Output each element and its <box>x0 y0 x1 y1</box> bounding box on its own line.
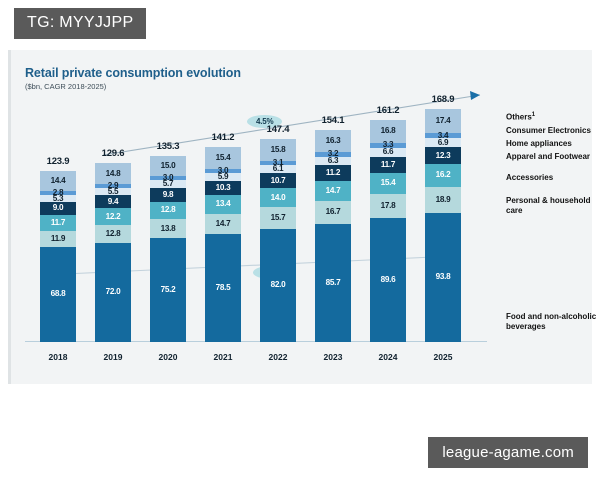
bar-segment: 14.7 <box>315 181 351 201</box>
bar-segment: 13.8 <box>150 219 186 238</box>
tg-tag-badge: TG: MYYJJPP <box>14 8 146 39</box>
bar-segment-value: 12.3 <box>436 152 451 160</box>
bar-segment: 9.0 <box>40 202 76 214</box>
bar-segment-value: 89.6 <box>381 276 396 284</box>
bar-segment: 11.2 <box>315 165 351 180</box>
bar-segment: 75.2 <box>150 238 186 342</box>
bar-segment: 14.0 <box>260 188 296 207</box>
bar-segment-value: 14.7 <box>216 220 231 228</box>
bar-segment: 6.6 <box>370 148 406 157</box>
bar-segment-value: 75.2 <box>161 286 176 294</box>
bar-segment-value: 12.2 <box>106 213 121 221</box>
bar-segment: 72.0 <box>95 243 131 342</box>
bar-segment-value: 9.0 <box>53 204 63 212</box>
bar-stack: 16.83.36.611.715.417.889.6 <box>370 120 406 342</box>
bar-segment: 9.4 <box>95 195 131 208</box>
bar-segment: 6.3 <box>315 157 351 166</box>
legend-item-consumer-electronics: Consumer Electronics <box>506 126 600 136</box>
watermark-badge: league-agame.com <box>428 437 588 468</box>
bar-segment: 93.8 <box>425 213 461 342</box>
bar-segment: 78.5 <box>205 234 241 342</box>
bar-segment-value: 15.4 <box>381 179 396 187</box>
bar-segment: 5.9 <box>205 173 241 181</box>
x-axis-label-2018: 2018 <box>35 352 81 362</box>
bar-segment-value: 15.8 <box>271 146 286 154</box>
legend-item-others: Others1 <box>506 112 600 123</box>
legend: Others1 Consumer Electronics Home applia… <box>506 112 600 219</box>
bar-segment-value: 9.8 <box>163 191 173 199</box>
bar-segment-value: 6.3 <box>328 157 338 165</box>
bar-segment: 14.7 <box>205 214 241 234</box>
bar-segment-value: 11.9 <box>51 235 65 243</box>
bar-segment-value: 9.4 <box>108 198 118 206</box>
bar-segment: 15.4 <box>370 173 406 194</box>
bar-segment: 10.7 <box>260 173 296 188</box>
bar-segment: 5.3 <box>40 195 76 202</box>
x-axis-label-2025: 2025 <box>420 352 466 362</box>
bar-segment-value: 17.8 <box>381 202 396 210</box>
bar-segment: 12.2 <box>95 208 131 225</box>
bar-segment-value: 11.7 <box>51 219 65 227</box>
bar-segment-value: 16.8 <box>381 127 396 135</box>
bar-total-label: 147.4 <box>255 124 301 135</box>
bar-segment-value: 10.3 <box>216 184 231 192</box>
x-axis-label-2020: 2020 <box>145 352 191 362</box>
x-axis-label-2019: 2019 <box>90 352 136 362</box>
bar-segment: 6.9 <box>425 138 461 148</box>
bar-segment-value: 85.7 <box>326 279 341 287</box>
bar-total-label: 168.9 <box>420 94 466 105</box>
bar-segment: 15.7 <box>260 207 296 229</box>
bar-segment-value: 10.7 <box>271 177 286 185</box>
bar-segment: 12.3 <box>425 147 461 164</box>
bar-stack: 15.03.05.79.812.813.875.2 <box>150 156 186 342</box>
legend-others-superscript: 1 <box>532 112 535 118</box>
bar-segment: 11.9 <box>40 231 76 247</box>
bar-segment-value: 11.2 <box>326 169 340 177</box>
bar-segment-value: 17.4 <box>436 117 451 125</box>
legend-item-home-appliances: Home appliances <box>506 139 600 149</box>
legend-item-apparel-and-footwear: Apparel and Footwear <box>506 152 600 162</box>
legend-label-others: Others <box>506 113 532 122</box>
bar-segment: 16.2 <box>425 164 461 186</box>
bar-segment-value: 5.7 <box>163 180 173 188</box>
legend-item-personal-household-care: Personal & household care <box>506 196 600 216</box>
bar-segment-value: 14.4 <box>51 177 66 185</box>
bar-total-label: 161.2 <box>365 105 411 116</box>
bar-segment-value: 14.0 <box>271 194 286 202</box>
bar-segment-value: 5.9 <box>218 173 228 181</box>
bar-segment-value: 93.8 <box>436 273 451 281</box>
bar-segment: 85.7 <box>315 224 351 342</box>
x-axis-label-2021: 2021 <box>200 352 246 362</box>
bar-segment: 10.3 <box>205 181 241 195</box>
bar-segment-value: 6.1 <box>273 165 283 173</box>
bar-segment-value: 68.8 <box>51 290 66 298</box>
bar-segment: 89.6 <box>370 218 406 341</box>
bar-segment-value: 11.7 <box>381 161 395 169</box>
bar-segment: 12.8 <box>150 202 186 220</box>
bar-segment: 11.7 <box>370 157 406 173</box>
bar-segment: 9.8 <box>150 188 186 202</box>
bar-segment-value: 6.9 <box>438 139 448 147</box>
bar-segment: 17.8 <box>370 194 406 219</box>
bar-segment-value: 16.7 <box>326 208 341 216</box>
slide-card: Retail private consumption evolution ($b… <box>8 50 592 384</box>
bar-segment: 11.7 <box>40 215 76 231</box>
bar-segment-value: 15.7 <box>271 214 286 222</box>
bar-segment-value: 18.9 <box>436 196 451 204</box>
bar-segment: 17.4 <box>425 109 461 133</box>
bar-stack: 16.33.26.311.214.716.785.7 <box>315 130 351 342</box>
bar-total-label: 154.1 <box>310 115 356 126</box>
bar-segment-value: 13.8 <box>161 225 176 233</box>
bar-stack: 14.42.85.39.011.711.968.8 <box>40 171 76 342</box>
stacked-bar-chart: 4.5% 4.5% 123.914.42.85.39.011.711.968.8… <box>25 70 495 370</box>
bar-stack: 14.82.95.59.412.212.872.0 <box>95 163 131 342</box>
bar-segment-value: 14.8 <box>106 170 121 178</box>
bar-segment: 13.4 <box>205 195 241 213</box>
bar-segment-value: 14.7 <box>326 187 341 195</box>
bar-stack: 17.43.46.912.316.218.993.8 <box>425 109 461 342</box>
bar-segment: 5.5 <box>95 188 131 196</box>
bar-segment: 18.9 <box>425 187 461 213</box>
bar-segment-value: 6.6 <box>383 148 393 156</box>
bar-total-label: 129.6 <box>90 148 136 159</box>
bar-total-label: 135.3 <box>145 141 191 152</box>
bar-segment: 5.7 <box>150 180 186 188</box>
bar-segment-value: 16.2 <box>436 171 451 179</box>
bar-total-label: 141.2 <box>200 132 246 143</box>
x-axis-label-2022: 2022 <box>255 352 301 362</box>
bar-stack: 15.83.16.110.714.015.782.0 <box>260 139 296 342</box>
bar-segment-value: 15.4 <box>216 154 231 162</box>
x-axis-label-2024: 2024 <box>365 352 411 362</box>
bar-segment: 12.8 <box>95 225 131 243</box>
bar-segment: 6.1 <box>260 165 296 173</box>
bar-segment-value: 12.8 <box>161 206 176 214</box>
bar-segment-value: 12.8 <box>106 230 121 238</box>
bar-stack: 15.43.05.910.313.414.778.5 <box>205 147 241 342</box>
bar-segment-value: 16.3 <box>326 137 341 145</box>
bar-segment-value: 72.0 <box>106 288 121 296</box>
bar-segment-value: 15.0 <box>161 162 176 170</box>
legend-item-food-beverages: Food and non-alcoholic beverages <box>506 312 600 333</box>
bar-segment: 16.7 <box>315 201 351 224</box>
bar-segment-value: 78.5 <box>216 284 231 292</box>
legend-item-accessories: Accessories <box>506 173 600 183</box>
bar-segment-value: 82.0 <box>271 281 286 289</box>
bar-segment: 68.8 <box>40 247 76 342</box>
bar-segment-value: 13.4 <box>216 200 231 208</box>
x-axis-label-2023: 2023 <box>310 352 356 362</box>
bar-total-label: 123.9 <box>35 156 81 167</box>
bar-segment: 82.0 <box>260 229 296 342</box>
